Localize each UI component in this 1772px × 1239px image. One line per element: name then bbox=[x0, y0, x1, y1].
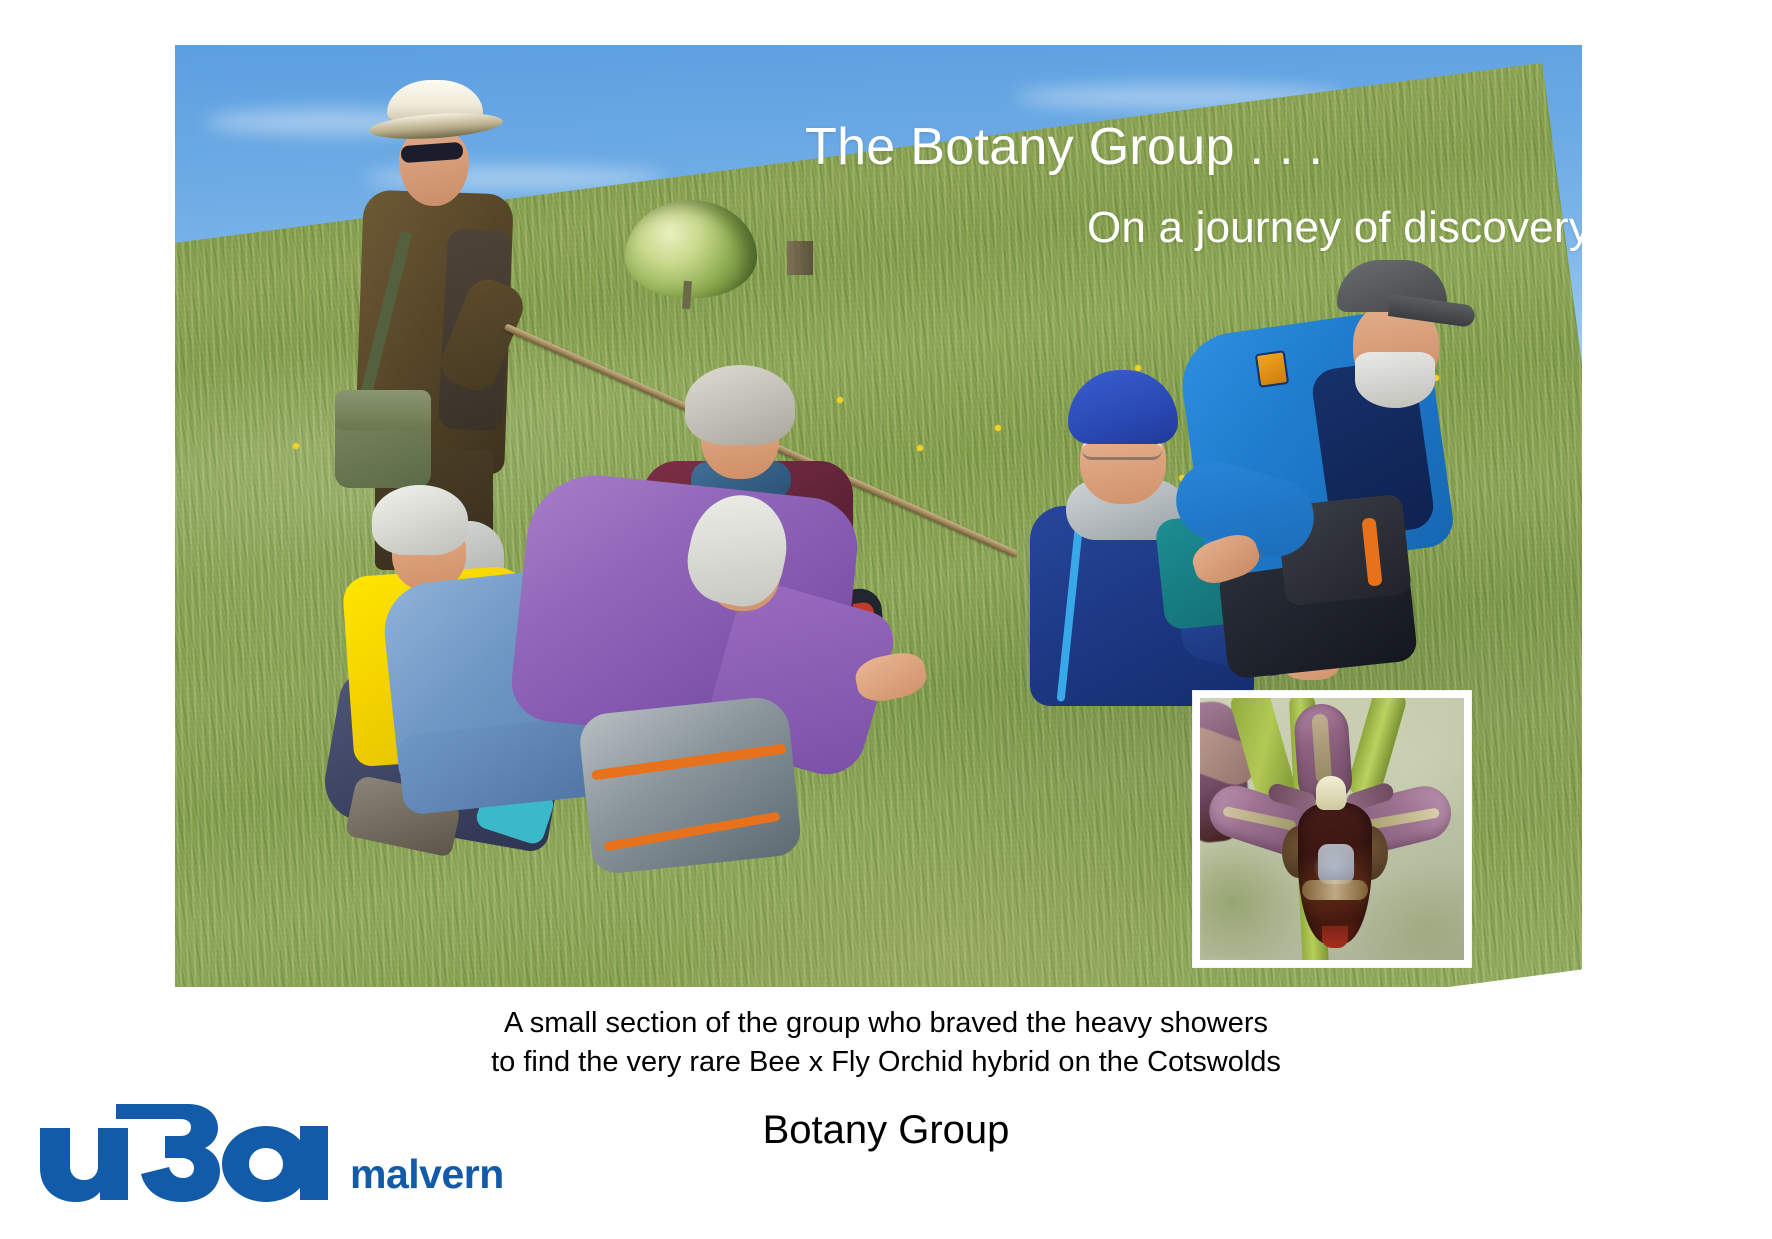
figure-man-blue-jacket bbox=[1175, 260, 1475, 640]
orchid-closeup-image bbox=[1200, 698, 1464, 960]
logo-branch-name: malvern bbox=[350, 1151, 504, 1198]
buttercup-flower bbox=[917, 445, 923, 451]
distant-fencepost bbox=[787, 241, 813, 275]
sleeve-badge bbox=[1255, 350, 1289, 388]
buttercup-flower bbox=[995, 425, 1001, 431]
u3a-malvern-logo: malvern bbox=[38, 1098, 468, 1208]
orchid-column bbox=[1316, 776, 1346, 810]
orchid-speculum-marking bbox=[1318, 844, 1354, 884]
orchid-lip-band bbox=[1302, 880, 1368, 900]
orchid-lip-tip bbox=[1322, 926, 1348, 948]
photo-caption: A small section of the group who braved … bbox=[0, 1004, 1772, 1082]
grey-orange-rucksack bbox=[585, 705, 795, 865]
u3a-wordmark-icon bbox=[38, 1098, 338, 1208]
caption-line-1: A small section of the group who braved … bbox=[0, 1004, 1772, 1043]
poster-title-line-2: On a journey of discovery bbox=[1087, 203, 1582, 253]
grey-hair bbox=[685, 365, 795, 445]
blue-beanie-hat bbox=[1068, 370, 1178, 444]
white-beard bbox=[1355, 352, 1435, 408]
orchid-inset-photo bbox=[1193, 691, 1471, 967]
bag-flap bbox=[335, 390, 431, 430]
caption-line-2: to find the very rare Bee x Fly Orchid h… bbox=[0, 1043, 1772, 1082]
buttercup-flower bbox=[293, 443, 299, 449]
main-photograph: The Botany Group . . . On a journey of d… bbox=[175, 45, 1582, 987]
poster-title-line-1: The Botany Group . . . bbox=[805, 117, 1323, 177]
